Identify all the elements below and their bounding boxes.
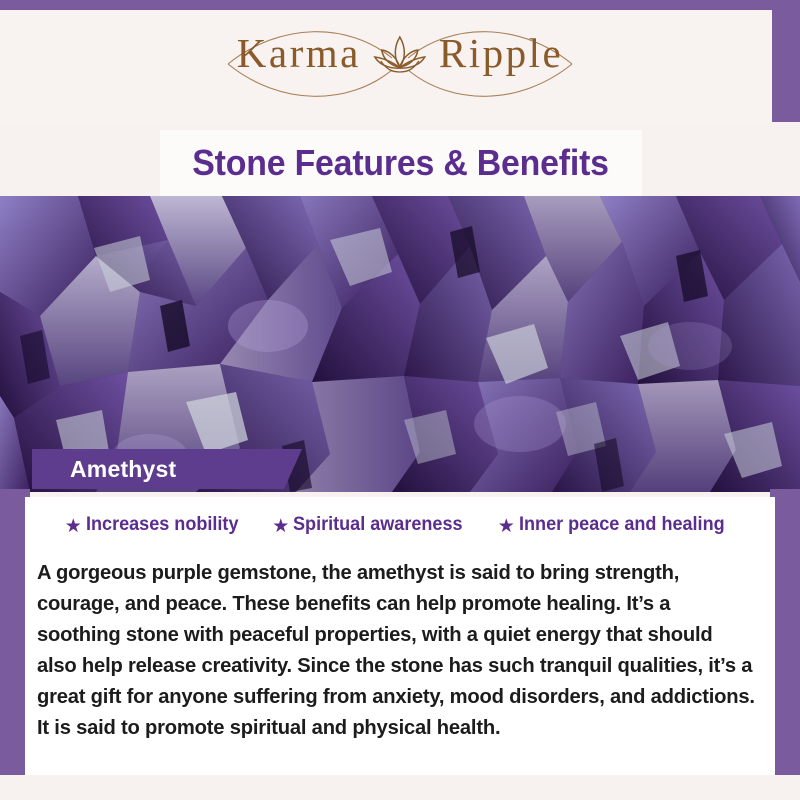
footer-strip: [0, 775, 800, 800]
benefit-item: ★ Inner peace and healing: [498, 514, 736, 536]
header: Karma Ripple: [0, 10, 800, 122]
star-icon: ★: [65, 517, 82, 536]
brand-name-left: Karma: [237, 33, 361, 74]
star-icon: ★: [272, 517, 289, 536]
benefit-item: ★ Spiritual awareness: [272, 514, 472, 536]
lotus-icon: [369, 30, 431, 76]
brand-name-right: Ripple: [439, 33, 563, 74]
frame-border-right: [772, 0, 800, 122]
title-banner: Stone Features & Benefits: [160, 130, 642, 196]
benefit-label: Inner peace and healing: [519, 514, 725, 536]
benefits-list: ★ Increases nobility ★ Spiritual awarene…: [25, 514, 775, 536]
benefit-item: ★ Increases nobility: [65, 514, 247, 536]
stone-description: A gorgeous purple gemstone, the amethyst…: [37, 557, 756, 743]
description-card: ★ Increases nobility ★ Spiritual awarene…: [25, 497, 775, 775]
brand-logo: Karma Ripple: [237, 30, 563, 76]
amethyst-photo: [0, 196, 800, 492]
star-icon: ★: [498, 517, 515, 536]
frame-border-top: [0, 0, 800, 10]
benefit-label: Spiritual awareness: [293, 514, 463, 536]
stone-info-card: Karma Ripple Stone Features & Benefits: [0, 0, 800, 800]
page-title: Stone Features & Benefits: [193, 142, 610, 184]
benefit-label: Increases nobility: [86, 514, 238, 536]
stone-name: Amethyst: [70, 456, 176, 483]
amethyst-photo-graphic: [0, 196, 800, 492]
